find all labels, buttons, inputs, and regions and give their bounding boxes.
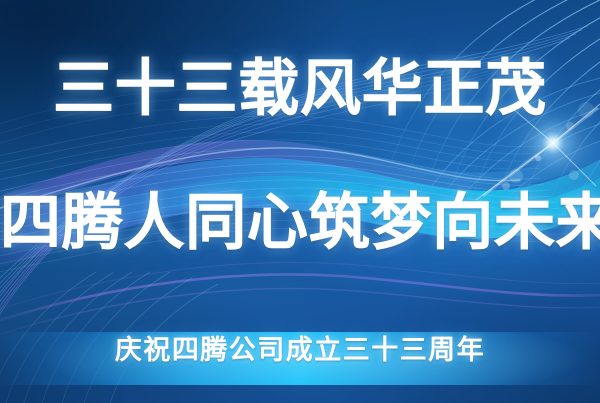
headline-line-1: 三十三载风华正茂 xyxy=(53,58,547,119)
headline-line-2: 四腾人同心筑梦向未来 xyxy=(0,192,600,253)
headline-line-2-container: 四腾人同心筑梦向未来 xyxy=(0,192,600,253)
subtitle-text: 庆祝四腾公司成立三十三周年 xyxy=(115,336,485,365)
subtitle-container: 庆祝四腾公司成立三十三周年 xyxy=(0,336,600,365)
headline-line-1-container: 三十三载风华正茂 xyxy=(0,58,600,119)
anniversary-poster: 三十三载风华正茂 四腾人同心筑梦向未来 庆祝四腾公司成立三十三周年 xyxy=(0,0,600,403)
